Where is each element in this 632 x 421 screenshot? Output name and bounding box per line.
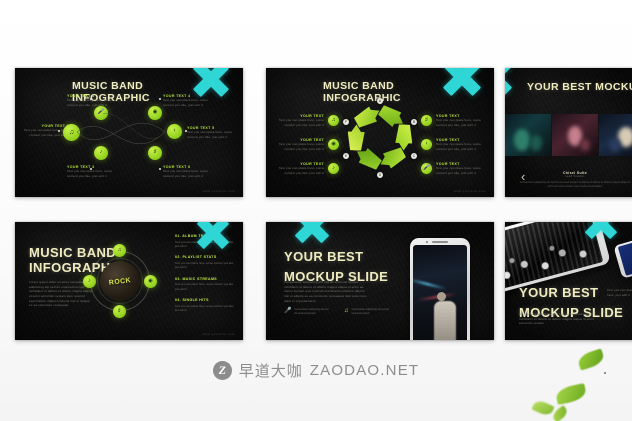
slide-3-title: YOUR BEST MOCKUP [527, 81, 632, 93]
ring-node-b[interactable]: B [411, 119, 417, 125]
slide-5-features: 🎤 Consectetur adipiscing elit sed do eiu… [284, 308, 390, 316]
rock-label: ROCK [108, 277, 131, 287]
list-item[interactable]: 02. PLAYLIST STATS Text you can place he… [175, 255, 237, 269]
ring-node-d[interactable]: D [377, 172, 383, 178]
watermark-chinese-text: 早道大咖 [239, 360, 303, 381]
circular-photo-diagram: ROCK ♫ ♪ ◉ ♯ [90, 251, 150, 311]
list-item[interactable]: 04. SINGLE HITS Text you can place here,… [175, 298, 237, 312]
band-photo-3[interactable] [599, 114, 632, 156]
caption-role: Lead Vocalist [505, 175, 632, 178]
leaf-decoration-icon [531, 398, 554, 417]
slide-2-left-item-2[interactable]: YOUR TEXT Text you can place here, some … [272, 138, 324, 151]
ring-node-e[interactable]: E [343, 153, 349, 159]
slide-thumbnail-6[interactable]: YOUR BEST MOCKUP SLIDE Consectetur adipi… [505, 222, 632, 340]
circular-arrow-diagram: A B C D E F [343, 101, 417, 175]
phone-mockup-secondary[interactable] [613, 231, 632, 279]
list-item[interactable]: 03. MUSIC STREAMS Text you can place her… [175, 277, 237, 291]
slide-4-list: 01. ALBUM TRACKS Text you can place here… [175, 234, 237, 320]
headphones-icon[interactable]: ♯ [113, 305, 126, 318]
band-photo-1[interactable] [505, 114, 551, 156]
concert-singer-photo [413, 245, 467, 340]
slide-thumbnail-3[interactable]: YOUR BEST MOCKUP ‹ Chisel Suite Le [505, 68, 632, 197]
photo-strip [505, 114, 632, 156]
slide-2-right-item-1[interactable]: YOUR TEXT Text you can place here, some … [436, 114, 488, 127]
slide-2-footer-url: www.yoursite.com [454, 190, 486, 193]
slide-2-right-item-2[interactable]: YOUR TEXT Text you can place here, some … [436, 138, 488, 151]
music-note-icon: ♫ [344, 308, 349, 314]
headphones-icon[interactable]: ♯ [421, 115, 432, 126]
zaodao-logo-icon: Z [213, 361, 232, 380]
ring-node-a[interactable]: A [377, 98, 383, 104]
watermark-domain-text: ZAODAO.NET [310, 362, 420, 379]
slide-2-right-item-3[interactable]: YOUR TEXT Text you can place here, some … [436, 162, 488, 175]
slide-thumbnail-5[interactable]: YOUR BEST MOCKUP SLIDE Consectetur adipi… [266, 222, 494, 340]
phone-speaker [432, 241, 448, 243]
music-note-icon[interactable]: ♫ [113, 244, 126, 257]
slide-2-left-item-1[interactable]: YOUR TEXT Text you can place here, some … [272, 114, 324, 127]
phone-mockup[interactable] [410, 238, 470, 340]
phone-camera [426, 241, 428, 243]
playlist-icon[interactable]: ♪ [83, 275, 96, 288]
slide-5-body: Consectetur adipiscing elit sed do eiusm… [284, 280, 368, 303]
feature-item[interactable]: 🎤 Consectetur adipiscing elit sed do eiu… [284, 308, 330, 316]
music-note-icon[interactable]: ♫ [328, 115, 339, 126]
blue-screen [618, 234, 632, 276]
gnat-decoration-icon [604, 372, 606, 374]
list-item[interactable]: 01. ALBUM TRACKS Text you can place here… [175, 234, 237, 248]
slide-4-footer-url: www.yoursite.com [203, 333, 235, 336]
presentation-preview-canvas: MUSIC BAND INFOGRAPHIC YOUR TEXT 2 Text … [0, 0, 632, 421]
band-photo-round[interactable]: ROCK [100, 261, 140, 301]
slide-6-side-note: Text you can place here, just edit it [607, 288, 632, 297]
vinyl-record-icon[interactable]: ◉ [144, 275, 157, 288]
ring-node-f[interactable]: F [343, 119, 349, 125]
slide-thumbnail-2[interactable]: MUSIC BAND INFOGRAPHIC A B C D E F YOUR … [266, 68, 494, 197]
slide-thumbnail-1[interactable]: MUSIC BAND INFOGRAPHIC YOUR TEXT 2 Text … [15, 68, 243, 197]
connector-curves [15, 68, 243, 197]
watermark: Z 早道大咖 ZAODAO.NET [0, 360, 632, 381]
slide-5-title-line-1: YOUR BEST [284, 248, 388, 265]
slide-3-caption: Chisel Suite Lead Vocalist Consectetur a… [505, 171, 632, 189]
microphone-icon: 🎤 [284, 308, 291, 314]
ring-node-c[interactable]: C [411, 153, 417, 159]
slide-6-body: Consectetur adipiscing elit sed do eiusm… [519, 312, 597, 326]
guitar-icon[interactable]: ♪ [328, 163, 339, 174]
band-photo-2[interactable] [552, 114, 598, 156]
leaf-decoration-icon [555, 383, 588, 405]
feature-item[interactable]: ♫ Consectetur adipiscing elit sed do eiu… [344, 308, 390, 316]
caption-body: Consectetur adipiscing elit sed do eiusm… [505, 181, 632, 189]
vinyl-record-icon[interactable]: ◉ [328, 139, 339, 150]
slide-thumbnail-4[interactable]: MUSIC BAND INFOGRAPHIC Lorem ipsum dolor… [15, 222, 243, 340]
microphone-icon[interactable]: 🎤 [421, 163, 432, 174]
drumstick-icon[interactable]: ♮ [421, 139, 432, 150]
slide-2-left-item-3[interactable]: YOUR TEXT Text you can place here, some … [272, 162, 324, 175]
crowd-bw-photo [505, 222, 603, 290]
